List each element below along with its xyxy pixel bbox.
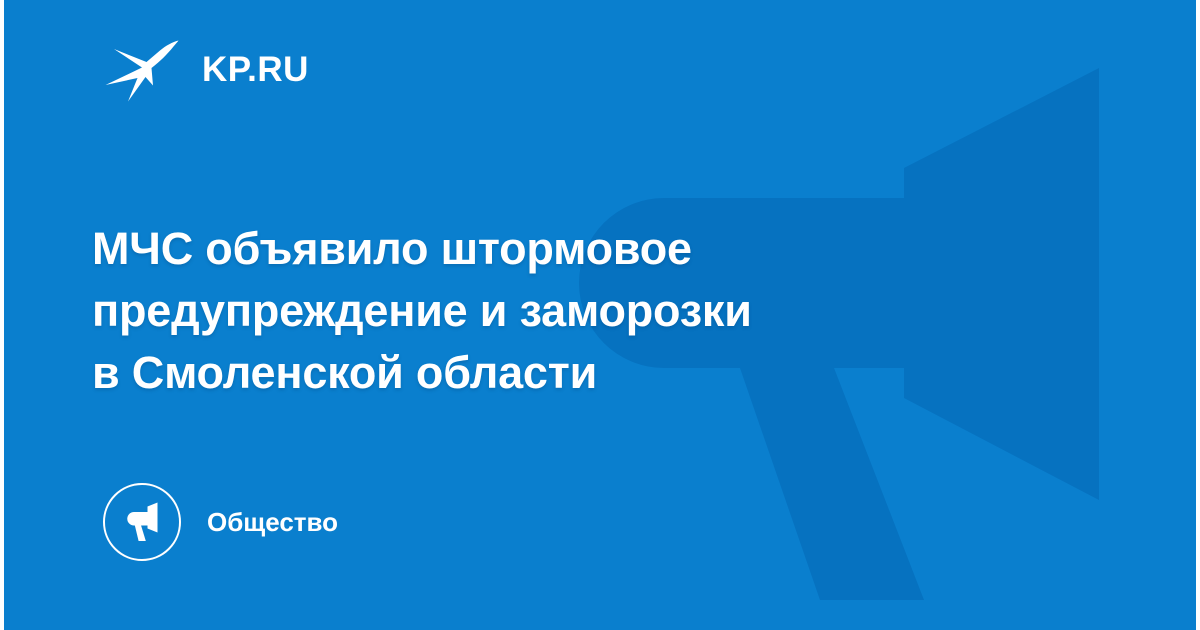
site-logo[interactable]: KP.RU [104,36,309,102]
headline-line-2: предупреждение и заморозки [92,280,992,342]
headline-line-3: в Смоленской области [92,342,992,404]
category-icon-circle [103,483,181,561]
category-badge[interactable]: Общество [103,483,338,561]
news-share-card: KP.RU МЧС объявило штормовое предупрежде… [0,0,1200,630]
category-label: Общество [207,509,338,535]
megaphone-icon [121,501,163,543]
headline-line-1: МЧС объявило штормовое [92,218,992,280]
page-title: МЧС объявило штормовое предупреждение и … [92,218,992,404]
swallow-bird-icon [104,36,180,102]
brand-wordmark: KP.RU [202,52,309,87]
